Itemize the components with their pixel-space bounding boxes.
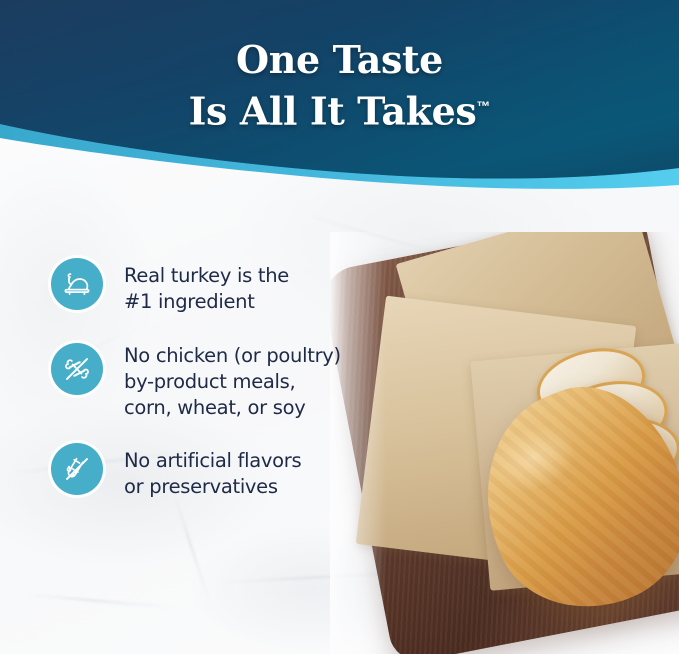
feature-label: No chicken (or poultry) by-product meals… [124, 343, 341, 421]
page-title: One Taste Is All It Takes™ [0, 36, 679, 135]
ad-banner: One Taste Is All It Takes™ Real turkey i… [0, 0, 679, 654]
feature-item-real-turkey: Real turkey is the #1 ingredient [51, 258, 351, 315]
feature-label: Real turkey is the #1 ingredient [124, 258, 289, 315]
feature-item-no-artificial: No artificial flavors or preservatives [51, 443, 351, 500]
roast-turkey-on-platter-icon [51, 258, 103, 310]
title-line-1: One Taste [236, 37, 443, 82]
title-line-2: Is All It Takes [189, 89, 477, 134]
roasted-turkey-breast-photo [330, 232, 679, 654]
title-line-2-wrap: Is All It Takes™ [0, 83, 679, 135]
no-bone-icon [51, 343, 103, 395]
feature-item-no-byproducts: No chicken (or poultry) by-product meals… [51, 343, 351, 421]
marble-vein [24, 593, 174, 608]
header-banner: One Taste Is All It Takes™ [0, 0, 679, 210]
no-test-tube-icon [51, 443, 103, 495]
marble-vein [173, 492, 212, 607]
feature-list: Real turkey is the #1 ingredient No chic… [51, 258, 351, 500]
trademark-icon: ™ [476, 98, 490, 114]
feature-label: No artificial flavors or preservatives [124, 443, 301, 500]
